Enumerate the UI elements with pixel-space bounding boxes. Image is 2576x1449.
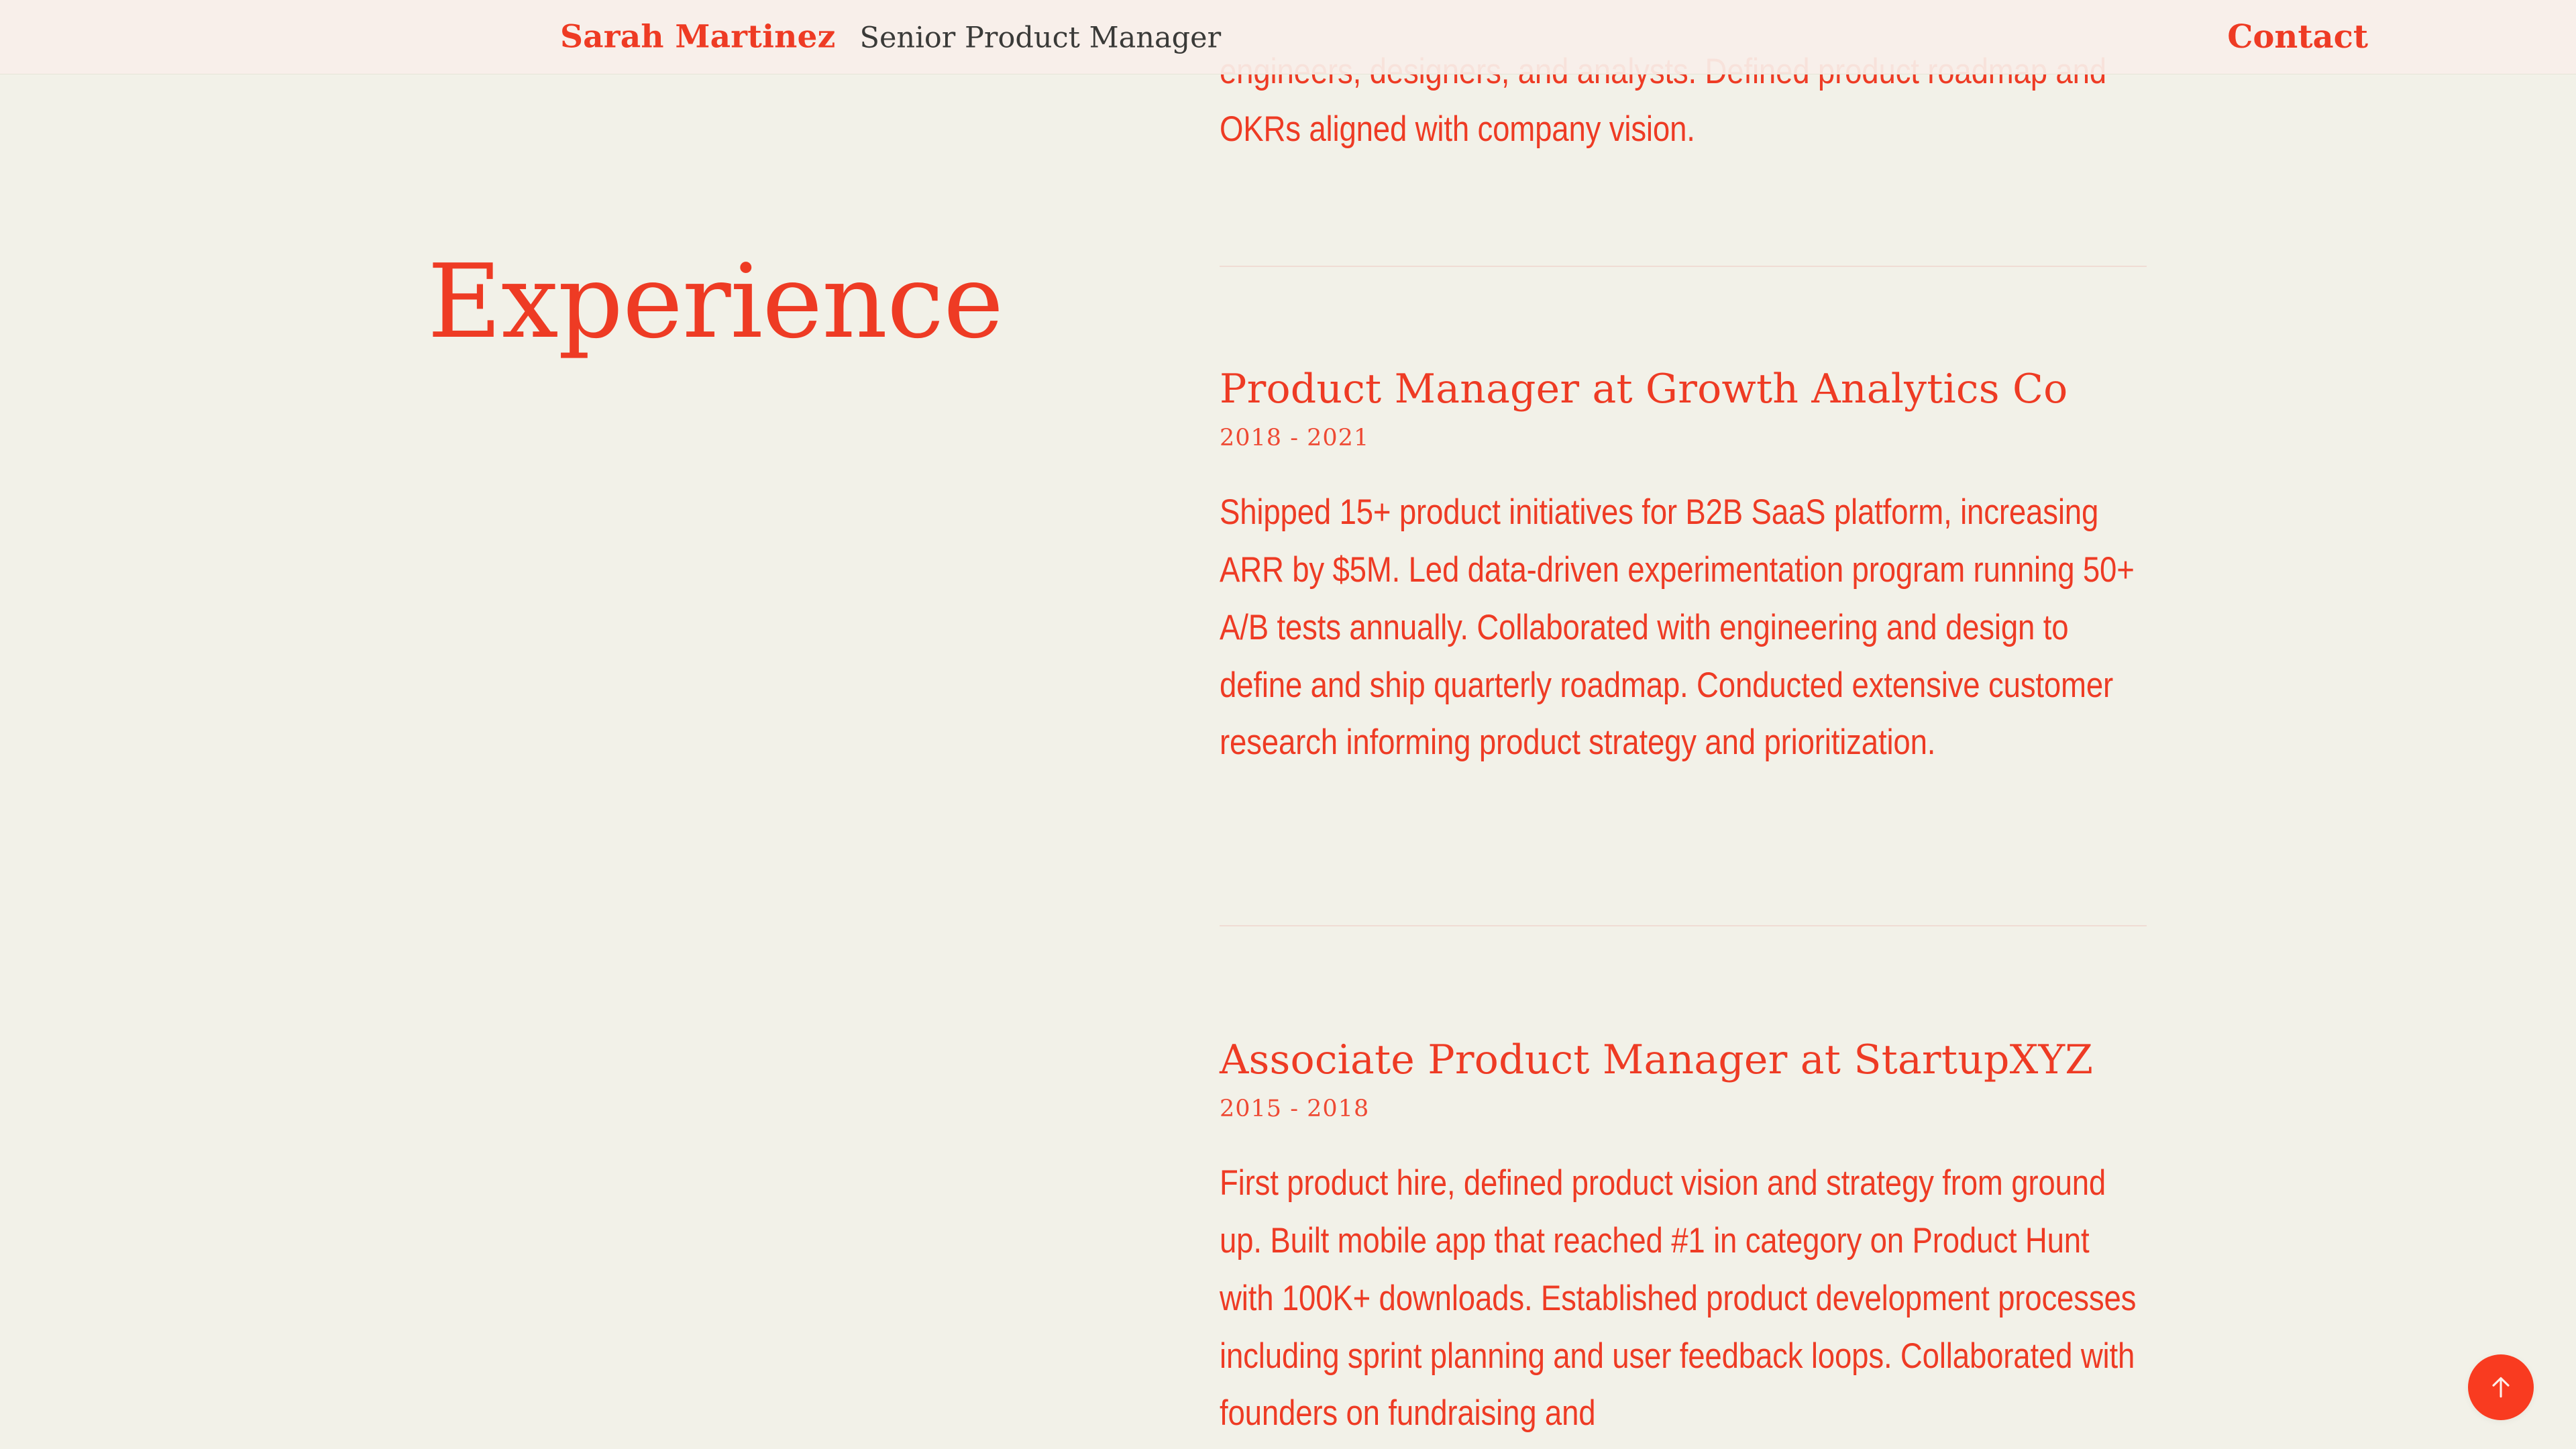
site-header: Sarah Martinez Senior Product Manager Co… bbox=[0, 0, 2576, 74]
brand-name[interactable]: Sarah Martinez bbox=[560, 21, 836, 53]
entry-divider bbox=[1220, 925, 2147, 926]
experience-body: First product hire, defined product visi… bbox=[1220, 1155, 2145, 1442]
experience-entry: Product Manager at Growth Analytics Co 2… bbox=[1220, 366, 2147, 771]
page-title: Experience bbox=[427, 248, 1003, 356]
experience-entry: Associate Product Manager at StartupXYZ … bbox=[1220, 1037, 2147, 1442]
scroll-to-top-button[interactable] bbox=[2468, 1354, 2534, 1420]
experience-dates: 2015 - 2018 bbox=[1220, 1095, 2147, 1122]
experience-job-title: Associate Product Manager at StartupXYZ bbox=[1220, 1037, 2147, 1083]
entry-divider bbox=[1220, 266, 2147, 267]
nav-link-contact[interactable]: Contact bbox=[2227, 21, 2368, 53]
experience-dates: 2018 - 2021 bbox=[1220, 425, 2147, 451]
experience-job-title: Product Manager at Growth Analytics Co bbox=[1220, 366, 2147, 413]
brand-role: Senior Product Manager bbox=[860, 24, 1222, 53]
brand[interactable]: Sarah Martinez Senior Product Manager bbox=[560, 21, 1221, 53]
experience-body: Shipped 15+ product initiatives for B2B … bbox=[1220, 484, 2145, 771]
arrow-up-icon bbox=[2486, 1373, 2516, 1402]
